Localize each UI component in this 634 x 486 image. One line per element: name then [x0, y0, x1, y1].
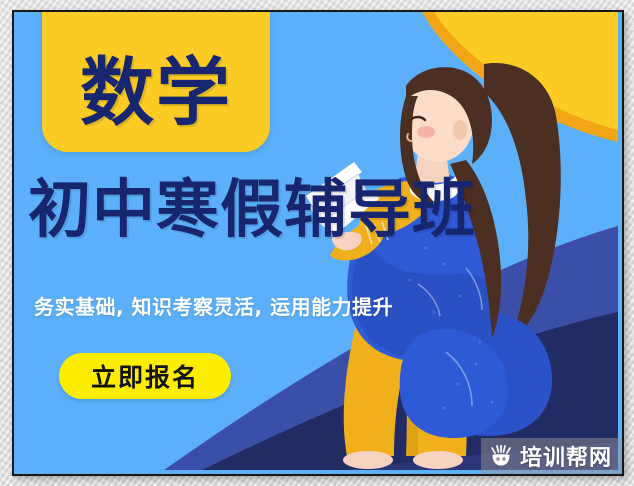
watermark: 培训帮网	[481, 438, 622, 474]
watermark-label: 培训帮网	[520, 440, 612, 472]
subject-tag-label: 数学	[80, 56, 232, 152]
enroll-now-button[interactable]: 立即报名	[59, 353, 231, 399]
course-promo-banner: 数学 初中寒假辅导班 务实基础, 知识考察灵活, 运用能力提升 立即报名 培训帮…	[12, 10, 624, 476]
foot-right	[413, 451, 463, 469]
ear	[453, 120, 467, 140]
subject-tag: 数学	[42, 10, 270, 152]
subtitle-text: 务实基础, 知识考察灵活, 运用能力提升	[34, 291, 393, 320]
page-title: 初中寒假辅导班	[28, 178, 608, 242]
sun-face-icon	[489, 445, 513, 467]
foot-left	[343, 451, 393, 469]
cheek-blush	[417, 126, 435, 138]
enroll-now-button-label: 立即报名	[91, 358, 199, 394]
